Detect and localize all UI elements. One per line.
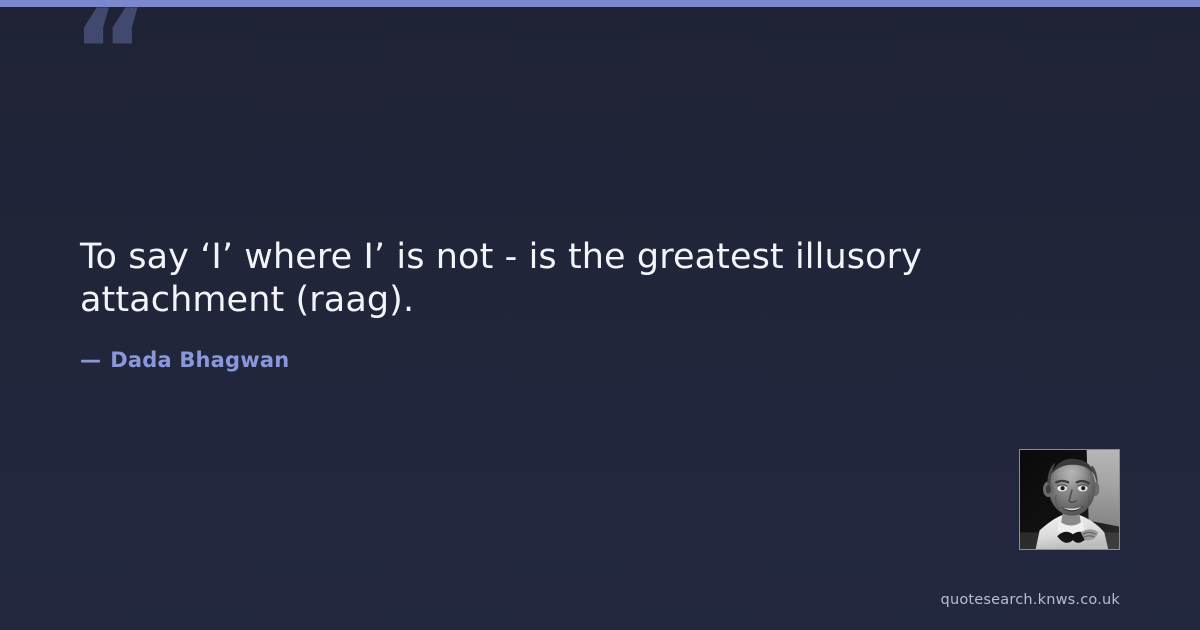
quote-text: To say ‘I’ where I’ is not - is the grea… [80, 236, 992, 322]
quote-attribution: — Dada Bhagwan [80, 348, 1100, 372]
author-portrait [1019, 449, 1120, 550]
attribution-author-name: Dada Bhagwan [110, 348, 289, 372]
source-url: quotesearch.knws.co.uk [941, 592, 1120, 608]
author-portrait-photo [1020, 450, 1119, 549]
top-accent-bar [0, 0, 1200, 7]
quote-body: To say ‘I’ where I’ is not - is the grea… [80, 236, 1100, 372]
attribution-dash-icon: — [80, 348, 101, 372]
quote-card: “ To say ‘I’ where I’ is not - is the gr… [0, 0, 1200, 630]
opening-quotation-mark-icon: “ [72, 0, 146, 111]
